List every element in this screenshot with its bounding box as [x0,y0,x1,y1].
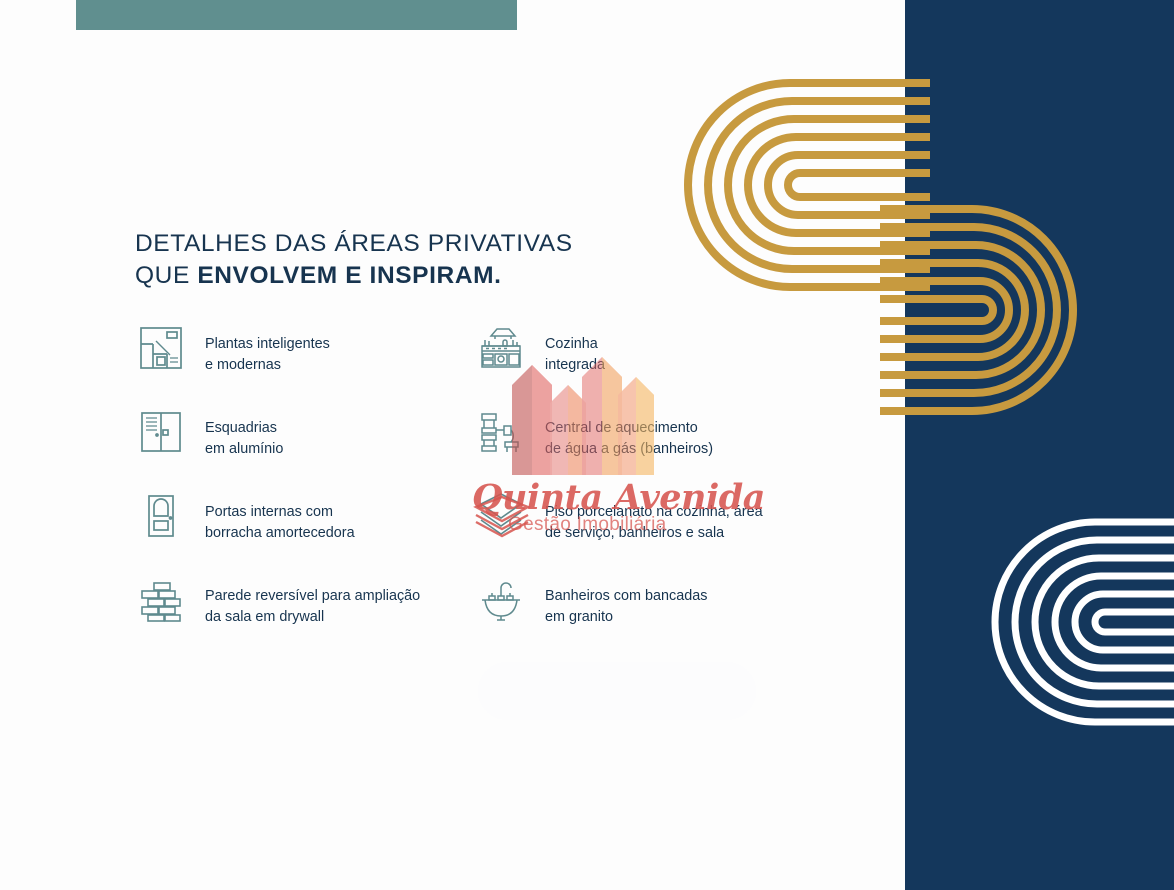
aluminum-window-icon [135,406,187,458]
page-title: DETALHES DAS ÁREAS PRIVATIVAS QUE ENVOLV… [135,228,695,292]
feature-line-1: Banheiros com bancadas [545,586,707,607]
feature-item-kitchen: Cozinha integrada [475,326,815,410]
bathroom-sink-icon [475,574,527,626]
feature-text: Parede reversível para ampliação da sala… [205,578,420,627]
gas-pipe-icon [475,406,527,458]
feature-text: Esquadrias em alumínio [205,410,283,459]
feature-line-1: Esquadrias [205,418,283,439]
teal-accent-bar [76,0,517,30]
feature-text: Cozinha integrada [545,326,605,375]
feature-item-bathroom-sink: Banheiros com bancadas em granito [475,578,815,662]
feature-line-2: borracha amortecedora [205,523,355,544]
feature-item-aluminum-window: Esquadrias em alumínio [135,410,475,494]
feature-column-left: Plantas inteligentes e modernas Esquadri… [135,326,475,662]
feature-line-1: Parede reversível para ampliação [205,586,420,607]
feature-line-1: Piso porcelanato na cozinha, área [545,502,763,523]
feature-item-brick-wall: Parede reversível para ampliação da sala… [135,578,475,662]
feature-line-2: em alumínio [205,439,283,460]
feature-line-1: Central de aquecimento [545,418,713,439]
feature-text: Piso porcelanato na cozinha, área de ser… [545,494,763,543]
feature-item-floor-tiles: Piso porcelanato na cozinha, área de ser… [475,494,815,578]
page-title-line-2: QUE ENVOLVEM E INSPIRAM. [135,260,695,292]
feature-line-2: da sala em drywall [205,607,420,628]
faint-rounded-shape [478,662,756,720]
feature-item-gas-pipe: Central de aquecimento de água a gás (ba… [475,410,815,494]
feature-text: Plantas inteligentes e modernas [205,326,330,375]
feature-column-right: Cozinha integrada [475,326,815,662]
feature-line-2: de água a gás (banheiros) [545,439,713,460]
page-title-line-2-bold: ENVOLVEM E INSPIRAM. [197,262,501,289]
kitchen-icon [475,322,527,374]
feature-text: Portas internas com borracha amortecedor… [205,494,355,543]
feature-text: Banheiros com bancadas em granito [545,578,707,627]
feature-text: Central de aquecimento de água a gás (ba… [545,410,713,459]
feature-line-2: em granito [545,607,707,628]
page-title-line-2-prefix: QUE [135,262,197,289]
page-title-line-1: DETALHES DAS ÁREAS PRIVATIVAS [135,228,695,260]
feature-line-1: Portas internas com [205,502,355,523]
navy-side-panel [905,0,1174,890]
floor-tiles-icon [475,490,527,542]
slide-canvas: DETALHES DAS ÁREAS PRIVATIVAS QUE ENVOLV… [0,0,1174,890]
brick-wall-icon [135,574,187,626]
interior-door-icon [135,490,187,542]
feature-item-interior-door: Portas internas com borracha amortecedor… [135,494,475,578]
feature-line-1: Cozinha [545,334,605,355]
feature-item-floor-plan: Plantas inteligentes e modernas [135,326,475,410]
feature-line-2: de serviço, banheiros e sala [545,523,763,544]
feature-line-1: Plantas inteligentes [205,334,330,355]
floor-plan-icon [135,322,187,374]
feature-line-2: integrada [545,355,605,376]
feature-line-2: e modernas [205,355,330,376]
